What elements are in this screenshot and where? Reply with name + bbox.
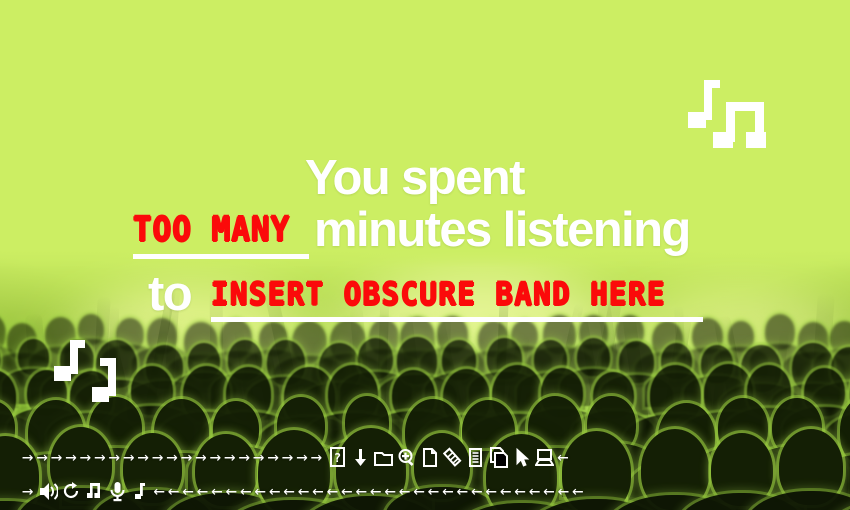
arrow-run-right: →→→→→→→→→→→→→→→→→→→→→ (22, 448, 325, 467)
beamed-notes-icon[interactable] (85, 481, 104, 502)
fill-in-blank-too-many-text: TOO MANY (133, 211, 290, 250)
page-icon[interactable] (420, 447, 439, 468)
headline-line-1: You spent (305, 152, 524, 204)
poster-canvas: You spent minutes listening to TOO MANY … (0, 0, 850, 510)
icon-ribbon-row-2: → (0, 478, 850, 504)
fill-in-blank-too-many[interactable]: TOO MANY (133, 212, 309, 248)
pencil-icon[interactable] (443, 447, 462, 468)
headline-line-2-text: minutes listening (314, 203, 690, 257)
arrow-run-left: ←←←←←←←←←←←←←←←←←←←←←←←←←←←←←← (153, 482, 586, 501)
arrow-run-right: → (22, 482, 36, 501)
document-lines-icon[interactable] (466, 447, 485, 468)
svg-text:?: ? (334, 451, 341, 465)
fill-in-blank-underline (211, 317, 703, 322)
icon-ribbon-row-1: →→→→→→→→→→→→→→→→→→→→→ ? (0, 444, 850, 470)
copy-pages-icon[interactable] (489, 447, 508, 468)
eighth-note-icon[interactable] (131, 481, 150, 502)
monitor-icon[interactable] (535, 447, 554, 468)
fill-in-blank-band-name-text: INSERT OBSCURE BAND HERE (211, 276, 666, 313)
cursor-pointer-icon[interactable] (512, 447, 531, 468)
icon-cluster-row-2 (36, 481, 153, 502)
download-arrow-icon[interactable] (351, 447, 370, 468)
microphone-icon[interactable] (108, 481, 127, 502)
icon-cluster-row-1: ? (325, 447, 557, 468)
fill-in-blank-underline (133, 254, 309, 259)
headline-line-3-prefix: to (148, 267, 191, 321)
zoom-search-icon[interactable] (397, 447, 416, 468)
icon-ribbon: →→→→→→→→→→→→→→→→→→→→→ ? (0, 444, 850, 504)
help-question-icon[interactable]: ? (328, 447, 347, 468)
folder-icon[interactable] (374, 447, 393, 468)
repeat-loop-icon[interactable] (62, 481, 81, 502)
headline-block: You spent minutes listening to TOO MANY … (0, 0, 850, 510)
headline-line-3: to (148, 268, 191, 320)
speaker-volume-icon[interactable] (39, 481, 58, 502)
fill-in-blank-band-name[interactable]: INSERT OBSCURE BAND HERE (211, 277, 703, 311)
arrow-run-left: ← (557, 448, 571, 467)
